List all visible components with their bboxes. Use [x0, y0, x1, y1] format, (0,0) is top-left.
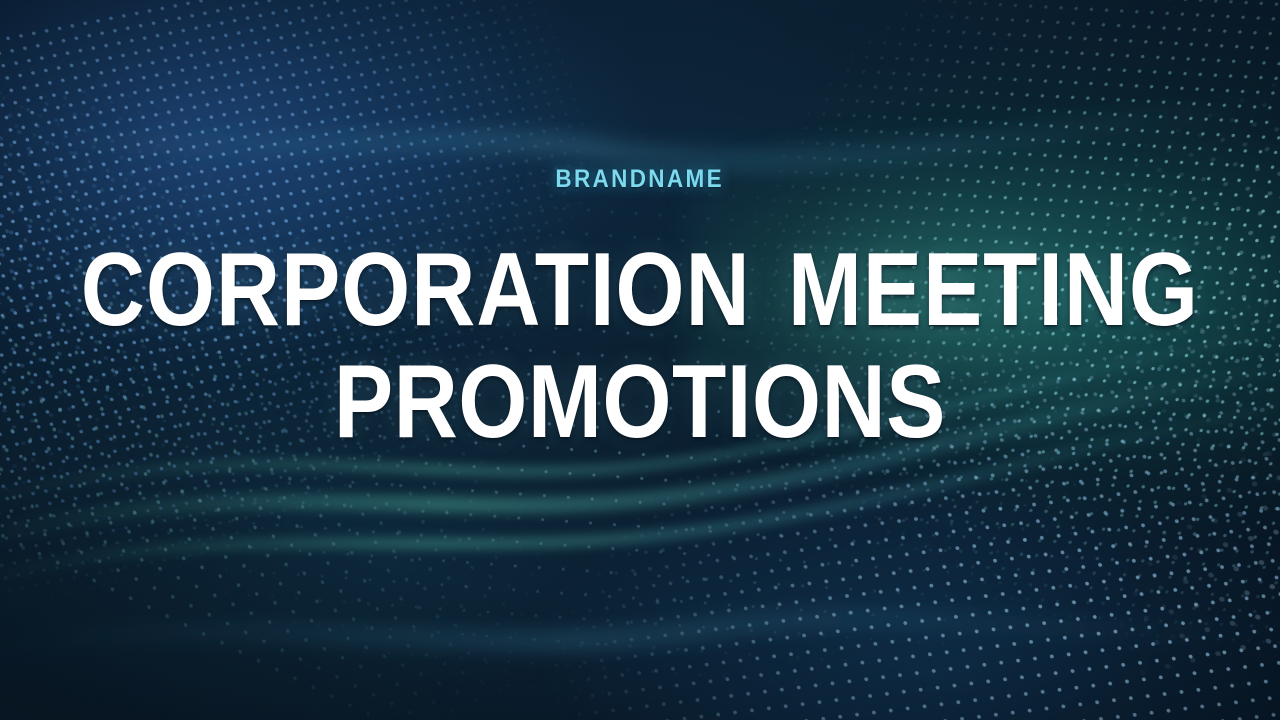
slide-content: BRANDNAME CORPORATIONMEETING PROMOTIONS — [0, 0, 1280, 720]
page-title: CORPORATIONMEETING PROMOTIONS — [0, 240, 1280, 454]
title-slide: BRANDNAME CORPORATIONMEETING PROMOTIONS — [0, 0, 1280, 720]
title-word-corporation: CORPORATION — [81, 232, 751, 348]
title-line-2: PROMOTIONS — [81, 352, 1199, 454]
title-line-1: CORPORATIONMEETING — [81, 240, 1199, 342]
brand-name-label: BRANDNAME — [556, 167, 725, 192]
title-word-meeting: MEETING — [788, 232, 1199, 348]
